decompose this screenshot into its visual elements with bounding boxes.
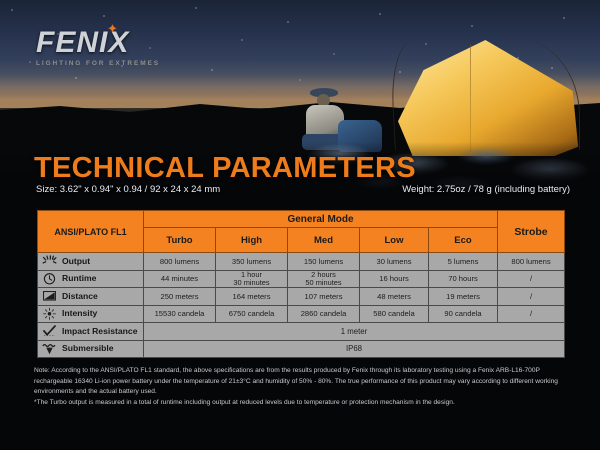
row-merged-value-cell: 1 meter [144,323,565,341]
row-value-cell: 580 candela [360,305,429,323]
table-row: Impact Resistance1 meter [38,323,565,341]
logo-wordmark: FENIX [36,28,160,58]
row-parameter-label: Impact Resistance [62,327,137,336]
row-strobe-cell: / [498,305,565,323]
size-text: Size: 3.62" x 0.94" x 0.94 / 92 x 24 x 2… [36,184,220,195]
row-value-cell: 5 lumens [429,253,498,271]
row-strobe-cell: / [498,270,565,288]
row-value-cell: 350 lumens [216,253,288,271]
row-parameter-label: Distance [62,292,98,301]
table-row: SubmersibleIP68 [38,340,565,358]
row-value-cell: 164 meters [216,288,288,306]
table-row: Runtime44 minutes1 hour30 minutes2 hours… [38,270,565,288]
beam-distance-icon [41,289,58,303]
page-title: TECHNICAL PARAMETERS [34,152,416,185]
row-value-cell: 800 lumens [144,253,216,271]
sun-rays-icon [41,254,58,268]
row-value-cell: 90 candela [429,305,498,323]
dimensions-row: Size: 3.62" x 0.94" x 0.94 / 92 x 24 x 2… [36,184,570,195]
row-parameter-cell: Distance [38,288,144,306]
intensity-burst-icon [41,307,58,321]
table-row: Output800 lumens350 lumens150 lumens30 l… [38,253,565,271]
row-value-cell: 1 hour30 minutes [216,270,288,288]
row-parameter-label: Runtime [62,274,96,283]
row-strobe-cell: 800 lumens [498,253,565,271]
row-value-cell: 150 lumens [288,253,360,271]
row-value-cell: 16 hours [360,270,429,288]
clock-icon [41,272,58,286]
weight-text: Weight: 2.75oz / 78 g (including battery… [402,184,570,195]
row-value-cell: 44 minutes [144,270,216,288]
row-merged-value-cell: IP68 [144,340,565,358]
footnote-block: Note: According to the ANSI/PLATO FL1 st… [34,366,570,409]
table-head: ANSI/PLATO FL1 General Mode Strobe Turbo… [38,211,565,253]
row-value-cell: 2860 candela [288,305,360,323]
fenix-logo: FENIX ✦ LIGHTING FOR EXTREMES [36,28,160,67]
row-value-cell: 2 hours50 minutes [288,270,360,288]
logo-tagline: LIGHTING FOR EXTREMES [36,60,160,67]
header-mode-med: Med [288,228,360,253]
row-value-cell: 19 meters [429,288,498,306]
row-parameter-cell: Output [38,253,144,271]
header-mode-low: Low [360,228,429,253]
header-general-mode: General Mode [144,211,498,228]
row-value-cell: 6750 candela [216,305,288,323]
row-parameter-label: Submersible [62,344,114,353]
header-ansi-plato: ANSI/PLATO FL1 [38,211,144,253]
row-parameter-cell: Intensity [38,305,144,323]
row-strobe-cell: / [498,288,565,306]
specs-table-container: ANSI/PLATO FL1 General Mode Strobe Turbo… [37,210,564,358]
row-value-cell: 15530 candela [144,305,216,323]
value-line: 50 minutes [288,279,359,287]
product-spec-sheet: FENIX ✦ LIGHTING FOR EXTREMES TECHNICAL … [0,0,600,450]
table-row: Intensity15530 candela6750 candela2860 c… [38,305,565,323]
table-body: Output800 lumens350 lumens150 lumens30 l… [38,253,565,358]
table-row: Distance250 meters164 meters107 meters48… [38,288,565,306]
row-value-cell: 107 meters [288,288,360,306]
row-parameter-cell: Impact Resistance [38,323,144,341]
header-strobe: Strobe [498,211,565,253]
row-parameter-label: Intensity [62,309,97,318]
header-mode-eco: Eco [429,228,498,253]
header-mode-high: High [216,228,288,253]
impact-check-icon [41,324,58,338]
row-parameter-label: Output [62,257,90,266]
footnote-line-1: Note: According to the ANSI/PLATO FL1 st… [34,366,570,398]
row-parameter-cell: Submersible [38,340,144,358]
star-icon: ✦ [107,22,118,35]
technical-parameters-table: ANSI/PLATO FL1 General Mode Strobe Turbo… [37,210,565,358]
value-line: 30 minutes [216,279,287,287]
table-head-row-1: ANSI/PLATO FL1 General Mode Strobe [38,211,565,228]
water-drop-icon [41,342,58,356]
row-value-cell: 250 meters [144,288,216,306]
header-mode-turbo: Turbo [144,228,216,253]
footnote-line-2: *The Turbo output is measured in a total… [34,398,570,409]
row-parameter-cell: Runtime [38,270,144,288]
row-value-cell: 70 hours [429,270,498,288]
row-value-cell: 48 meters [360,288,429,306]
row-value-cell: 30 lumens [360,253,429,271]
